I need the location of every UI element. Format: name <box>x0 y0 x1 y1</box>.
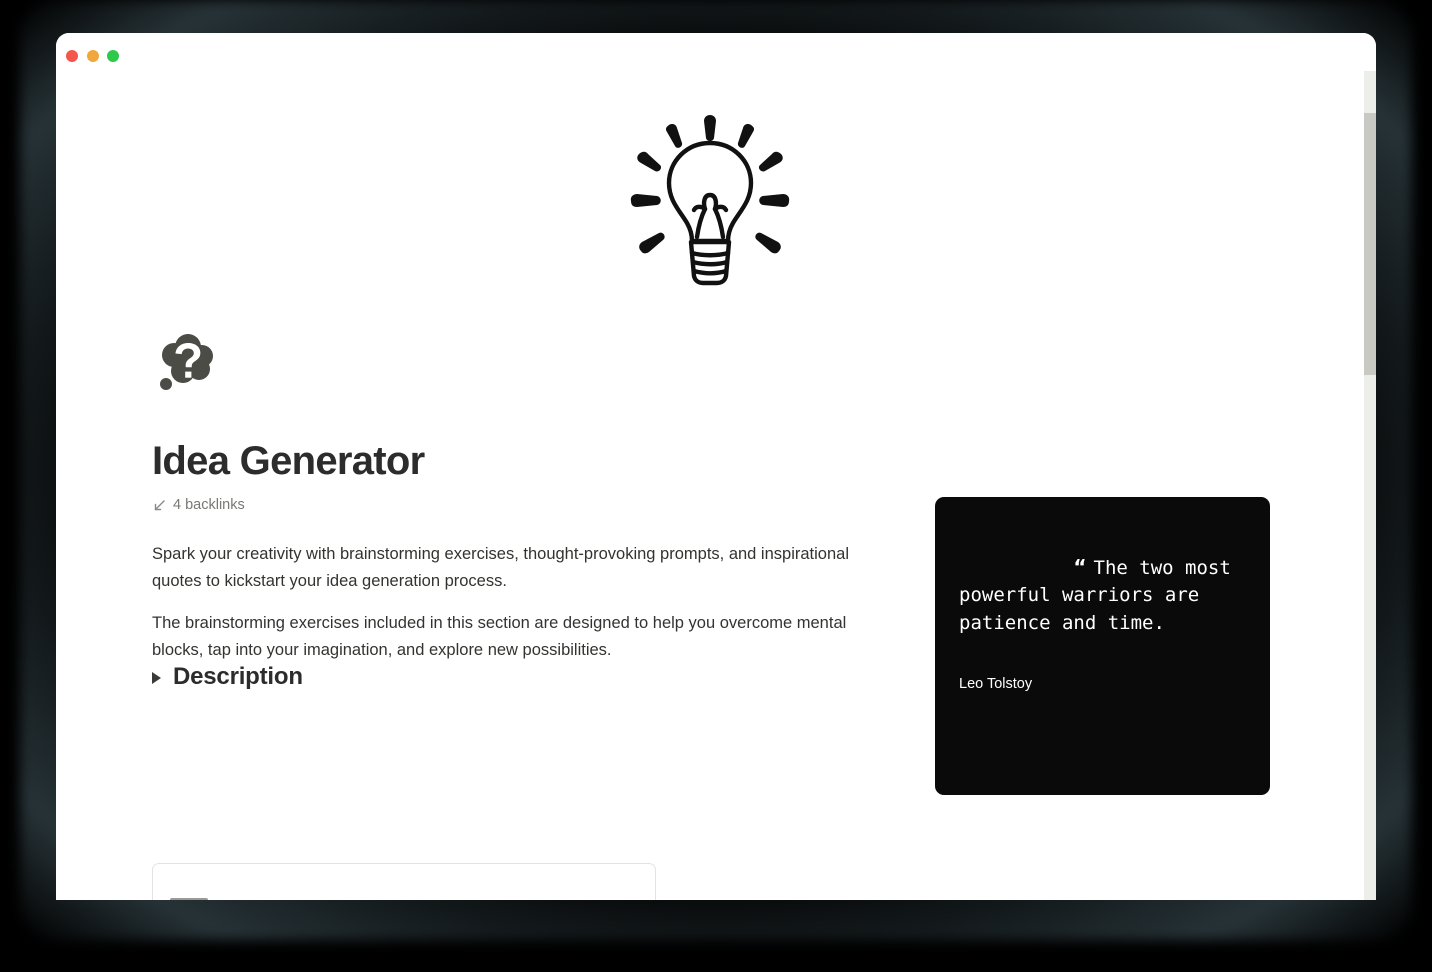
quote-mark-icon: “ <box>1073 555 1085 579</box>
app-window: Idea Generator 4 backlinks Spark your cr… <box>56 33 1376 900</box>
lightbulb-doodle-icon <box>625 111 795 287</box>
close-button-icon[interactable] <box>66 50 78 62</box>
window-titlebar[interactable] <box>56 33 1376 79</box>
vertical-scrollbar-track[interactable] <box>1364 71 1376 900</box>
minimize-button-icon[interactable] <box>87 50 99 62</box>
bottom-embed-card[interactable] <box>152 863 656 900</box>
paragraph-1: Spark your creativity with brainstorming… <box>152 541 872 594</box>
backlinks-button[interactable]: 4 backlinks <box>153 497 245 513</box>
screen-root: Idea Generator 4 backlinks Spark your cr… <box>0 0 1432 972</box>
triangle-right-icon[interactable] <box>152 672 161 684</box>
quote-card: “The two most powerful warriors are pati… <box>935 497 1270 795</box>
thought-balloon-question-icon[interactable] <box>152 327 224 399</box>
toggle-block-description[interactable]: Description <box>152 663 303 691</box>
toggle-label: Description <box>173 663 303 691</box>
quote-author: Leo Tolstoy <box>959 676 1246 692</box>
paragraph-2: The brainstorming exercises included in … <box>152 610 872 663</box>
page-content: Idea Generator 4 backlinks Spark your cr… <box>56 79 1364 900</box>
bottom-card-placeholder-chip <box>170 898 208 900</box>
vertical-scrollbar-thumb[interactable] <box>1364 113 1376 375</box>
quote-text: The two most powerful warriors are patie… <box>959 557 1242 634</box>
page-title: Idea Generator <box>152 439 425 484</box>
traffic-light-group <box>66 50 119 62</box>
arrow-down-left-icon <box>153 499 166 512</box>
quote-text-row: “The two most powerful warriors are pati… <box>959 525 1246 665</box>
backlinks-label: 4 backlinks <box>173 497 245 513</box>
page-body: Spark your creativity with brainstorming… <box>152 541 872 680</box>
zoom-button-icon[interactable] <box>107 50 119 62</box>
lightbulb-rays <box>631 115 789 253</box>
cover-illustration <box>56 99 1364 299</box>
